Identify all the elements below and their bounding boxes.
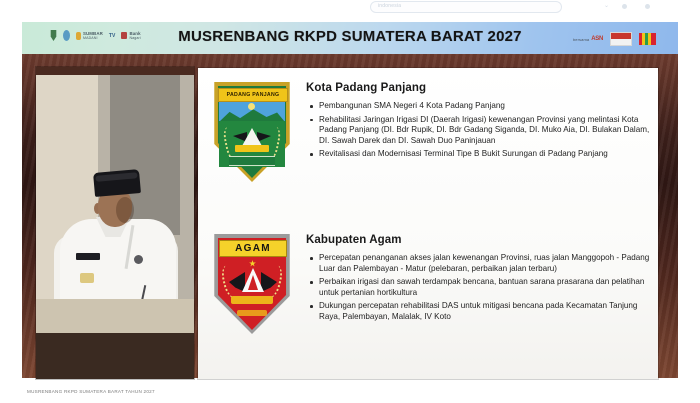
address-bar-text: indonesia — [378, 2, 401, 10]
bullet-list-kabupaten-agam: Percepatan penanganan akses jalan kewena… — [306, 253, 650, 323]
section-title-padang-panjang: Kota Padang Panjang — [306, 82, 650, 94]
section-body-kabupaten-agam: Kabupaten Agam Percepatan penanganan aks… — [306, 234, 650, 326]
crest-banner-text: AGAM — [219, 240, 287, 257]
crest-scroll — [229, 156, 275, 166]
presenter-nametag — [76, 253, 100, 260]
presenter-insignia — [80, 273, 94, 283]
list-item: Percepatan penanganan akses jalan kewena… — [319, 253, 650, 274]
section-title-kabupaten-agam: Kabupaten Agam — [306, 234, 650, 246]
section-body-padang-panjang: Kota Padang Panjang Pembangunan SMA Nege… — [306, 82, 650, 163]
presentation-slide: PADANG PANJANG Kota Padang Panjang Pemba… — [198, 68, 658, 379]
crest-banner-text: PADANG PANJANG — [218, 88, 288, 102]
presenter-photo — [36, 67, 194, 379]
stage-skirt — [36, 333, 194, 379]
partner-wordmark: bersama ASN — [573, 36, 603, 42]
indonesia-flag-icon — [610, 32, 632, 46]
slide-section-kabupaten-agam: AGAM Kabupaten Agam Percepatan penangana… — [198, 234, 658, 374]
slide-section-padang-panjang: PADANG PANJANG Kota Padang Panjang Pemba… — [198, 82, 658, 222]
partner-wordmark-label: bersama — [573, 37, 589, 42]
browser-chrome-strip: indonesia ⌄ — [0, 0, 700, 14]
crest-sun-icon — [248, 103, 255, 110]
crest-base — [235, 145, 269, 152]
chevron-down-icon[interactable]: ⌄ — [604, 3, 609, 9]
padang-panjang-crest: PADANG PANJANG — [206, 82, 298, 194]
article-photo: SUMBAR MADANI TV Bank Nagari MUSRENBANG … — [0, 13, 700, 385]
event-banner: SUMBAR MADANI TV Bank Nagari MUSRENBANG … — [22, 22, 678, 54]
photo-caption: MUSRENBANG RKPD SUMATERA BARAT TAHUN 202… — [27, 388, 155, 395]
list-item: Pembangunan SMA Negeri 4 Kota Padang Pan… — [319, 101, 650, 112]
peci-cap-icon — [93, 169, 141, 197]
bullet-list-padang-panjang: Pembangunan SMA Negeri 4 Kota Padang Pan… — [306, 101, 650, 160]
presenter-lanyard-badge — [134, 255, 143, 264]
ceiling-strip — [36, 67, 194, 75]
list-item: Perbaikan irigasi dan sawah terdampak be… — [319, 277, 650, 298]
agam-crest: AGAM — [206, 234, 298, 346]
profile-dot-icon[interactable] — [645, 4, 650, 9]
menu-dot-icon[interactable] — [622, 4, 627, 9]
list-item: Rehabilitasi Jaringan Irigasi DI (Daerah… — [319, 115, 650, 147]
list-item: Dukungan percepatan rehabilitasi DAS unt… — [319, 301, 650, 322]
floor-band — [36, 299, 194, 333]
crest-scroll — [231, 296, 273, 304]
banner-right-logos: bersama ASN — [573, 32, 656, 46]
list-item: Revitalisasi dan Modernisasi Terminal Ti… — [319, 149, 650, 160]
minangkabau-flag-icon — [639, 33, 656, 45]
presenter-face-shadow — [116, 197, 134, 223]
partner-wordmark-badge: ASN — [591, 36, 603, 42]
crest-scroll-lower — [237, 310, 267, 316]
